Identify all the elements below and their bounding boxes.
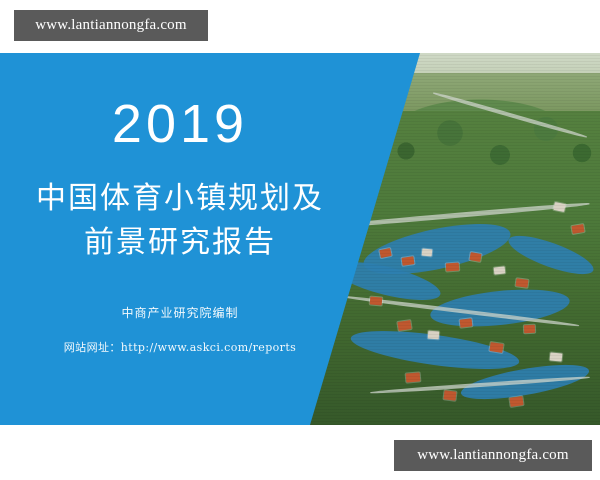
photo-rooftop	[370, 296, 383, 305]
report-cover-slide: 2019 中国体育小镇规划及 前景研究报告 中商产业研究院编制 网站网址：htt…	[0, 53, 600, 425]
photo-rooftop	[516, 278, 529, 288]
photo-rooftop	[443, 390, 456, 400]
watermark-bottom-text: www.lantiannongfa.com	[417, 447, 569, 464]
photo-rooftop	[406, 372, 421, 382]
cover-title-block: 2019 中国体育小镇规划及 前景研究报告 中商产业研究院编制 网站网址：htt…	[0, 53, 360, 425]
report-title-line-2: 前景研究报告	[0, 221, 360, 265]
report-title-line-1: 中国体育小镇规划及	[0, 177, 360, 221]
report-website: 网站网址：http://www.askci.com/reports	[0, 339, 360, 355]
report-title: 中国体育小镇规划及 前景研究报告	[0, 177, 360, 264]
watermark-top-text: www.lantiannongfa.com	[35, 17, 187, 34]
report-year: 2019	[0, 97, 360, 151]
photo-rooftop	[428, 331, 440, 340]
photo-rooftop	[446, 263, 460, 272]
photo-rooftop	[469, 252, 481, 262]
watermark-top: www.lantiannongfa.com	[14, 10, 208, 41]
photo-rooftop	[422, 248, 433, 256]
photo-rooftop	[524, 325, 535, 334]
report-publisher: 中商产业研究院编制	[0, 304, 360, 321]
photo-rooftop	[489, 342, 503, 353]
photo-rooftop	[550, 352, 563, 361]
watermark-bottom: www.lantiannongfa.com	[394, 440, 592, 471]
photo-rooftop	[460, 318, 473, 327]
photo-rooftop	[509, 396, 523, 407]
photo-rooftop	[402, 256, 415, 266]
photo-rooftop	[494, 266, 506, 274]
